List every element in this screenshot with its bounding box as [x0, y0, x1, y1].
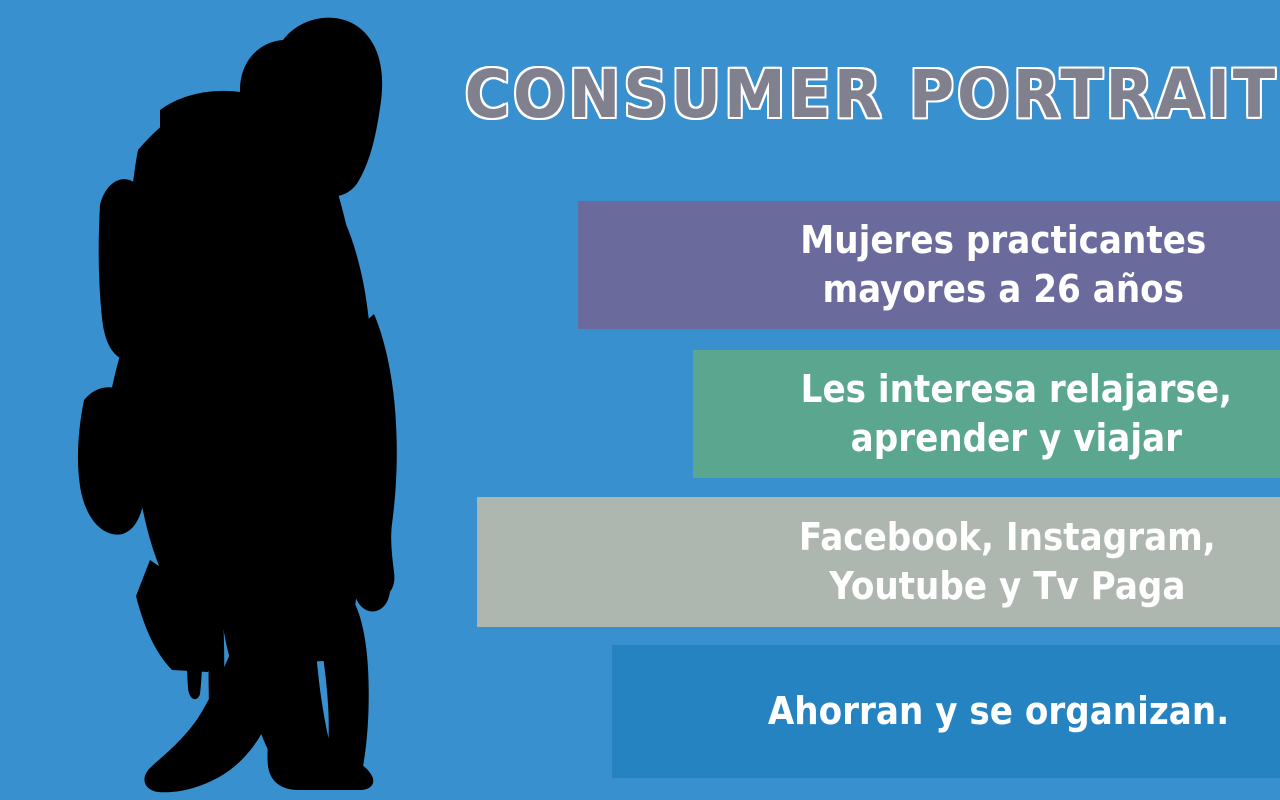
slide-canvas: CONSUMER PORTRAIT Mujeres practicantes m… — [0, 0, 1280, 800]
stat-bar-text: Mujeres practicantes mayores a 26 años — [639, 216, 1220, 313]
stat-bar-interests: Les interesa relajarse, aprender y viaja… — [693, 350, 1280, 478]
page-title: CONSUMER PORTRAIT — [465, 62, 1236, 128]
stat-bar-media-channels: Facebook, Instagram, Youtube y Tv Paga — [477, 497, 1280, 627]
stat-bar-text: Facebook, Instagram, Youtube y Tv Paga — [529, 513, 1229, 610]
stat-bar-behavior: Ahorran y se organizan. — [612, 645, 1280, 778]
stat-bar-text: Ahorran y se organizan. — [651, 687, 1242, 736]
stat-bar-demographics: Mujeres practicantes mayores a 26 años — [578, 201, 1280, 329]
backpacker-silhouette-icon — [40, 0, 420, 800]
stat-bar-text: Les interesa relajarse, aprender y viaja… — [729, 365, 1245, 462]
